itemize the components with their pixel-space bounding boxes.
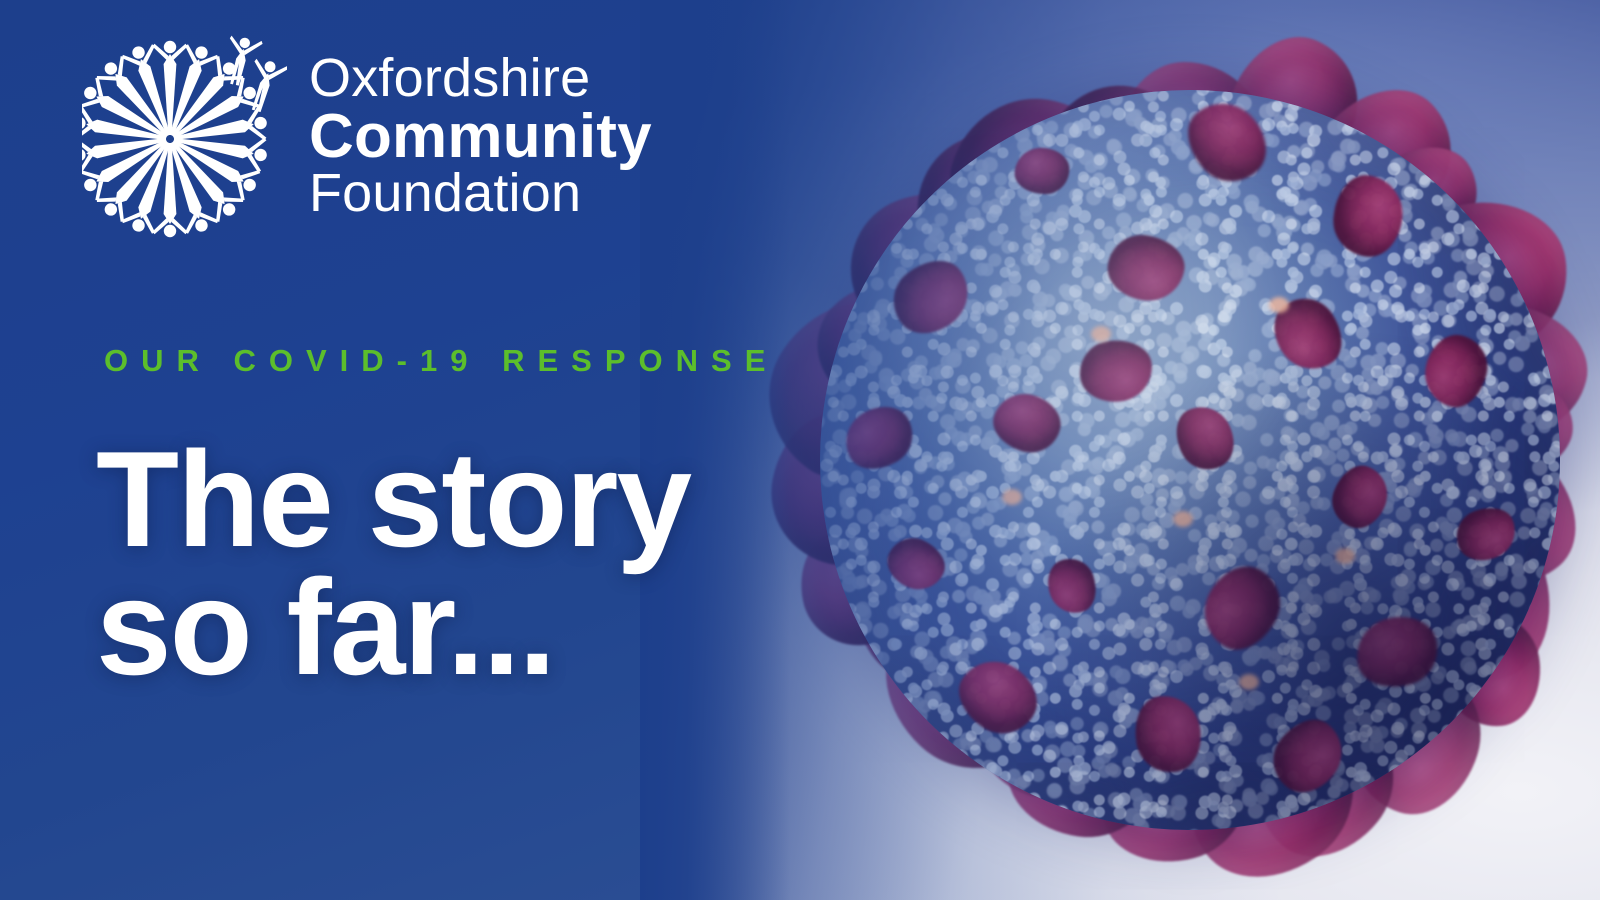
slide-content: Oxfordshire Community Foundation OUR COV… bbox=[0, 0, 1600, 900]
logo-line-foundation: Foundation bbox=[309, 168, 652, 220]
logo-line-community: Community bbox=[309, 107, 652, 167]
slide-headline: The story so far... bbox=[96, 436, 690, 692]
presentation-title-slide: Oxfordshire Community Foundation OUR COV… bbox=[0, 0, 1600, 900]
logo-wordmark: Oxfordshire Community Foundation bbox=[309, 49, 652, 220]
brand-logo[interactable]: Oxfordshire Community Foundation bbox=[82, 22, 682, 247]
logo-line-oxfordshire: Oxfordshire bbox=[309, 53, 652, 105]
starburst-people-logo-icon bbox=[82, 27, 287, 242]
slide-eyebrow: OUR COVID-19 RESPONSE bbox=[104, 343, 778, 379]
